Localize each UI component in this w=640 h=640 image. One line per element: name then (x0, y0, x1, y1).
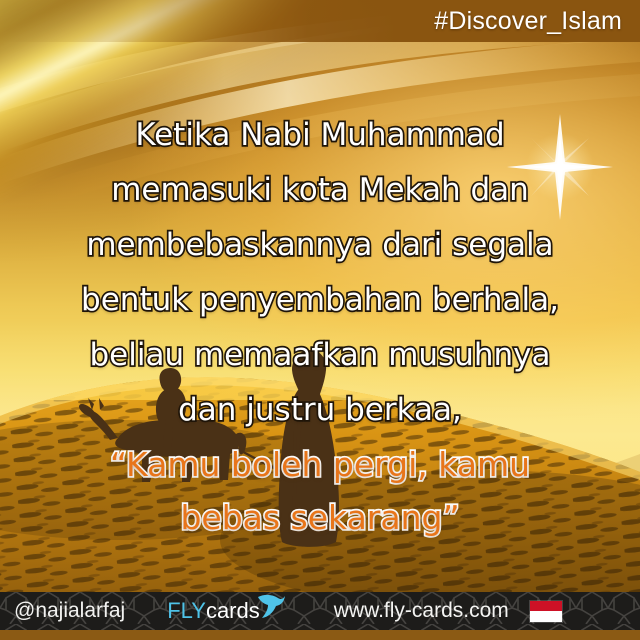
quote-line: Ketika Nabi Muhammad (0, 108, 640, 163)
brand-cards-text: cards (206, 598, 260, 624)
flycards-logo[interactable]: FLY cards (167, 598, 286, 624)
quote-text-block: Ketika Nabi Muhammad memasuki kota Mekah… (0, 108, 640, 544)
author-handle[interactable]: @najialarfaj (14, 599, 125, 623)
quote-line: dan justru berkaa, (0, 383, 640, 438)
indonesia-flag-icon (529, 600, 563, 623)
quote-line-highlight: “Kamu boleh pergi, kamu (0, 438, 640, 491)
top-hashtag-bar: #Discover_Islam (0, 0, 640, 42)
hashtag-label: #Discover_Islam (434, 7, 622, 36)
footer-content-row: @najialarfaj FLY cards www.fly-cards.com (0, 592, 640, 630)
quote-line: bentuk penyembahan berhala, (0, 273, 640, 328)
quote-line: beliau memaafkan musuhnya (0, 328, 640, 383)
website-url[interactable]: www.fly-cards.com (334, 599, 509, 623)
flag-white-band (530, 611, 562, 622)
footer-bottom-strip (0, 630, 640, 640)
quote-line-highlight: bebas sekarang” (0, 491, 640, 544)
quote-card: #Discover_Islam Ketika Nabi Muhammad mem… (0, 0, 640, 640)
brand-fly-text: FLY (167, 598, 206, 624)
flag-red-band (530, 601, 562, 612)
footer-bar: @najialarfaj FLY cards www.fly-cards.com (0, 592, 640, 640)
quote-line: membebaskannya dari segala (0, 218, 640, 273)
bird-icon (256, 593, 286, 619)
quote-line: memasuki kota Mekah dan (0, 163, 640, 218)
